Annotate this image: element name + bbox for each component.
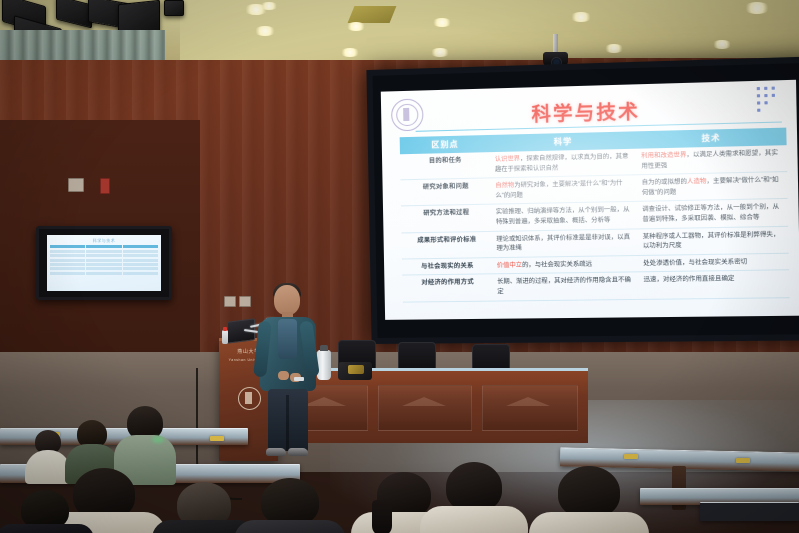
fire-alarm-plate (100, 178, 110, 194)
column-header-distinction: 区别点 (400, 135, 491, 154)
highlighted-term: 自然物 (495, 182, 514, 189)
cell-technology: 调查设计、试验修正等方法，从一般到个别，从普遍到特殊，多采取因袭、模拟、综合等 (638, 199, 788, 229)
audience-bench-back (700, 502, 799, 521)
student-body (529, 512, 649, 533)
bench-number-tag (624, 454, 638, 459)
monitor-table-row (50, 254, 158, 257)
cell-technology: 迅速，对经济的作用直接且确定 (639, 270, 789, 299)
ceiling-downlight (346, 22, 366, 31)
highlighted-term: 认识世界 (495, 155, 520, 163)
highlighted-term: 利用和改造世界 (641, 152, 686, 160)
student-body (0, 524, 94, 533)
row-label: 研究方法和过程 (401, 205, 492, 233)
ceiling-downlight (260, 2, 278, 10)
ceiling-vent (348, 6, 397, 23)
cell-science: 自然物为研究对象，主要解决“是什么”和“为什么”的问题 (491, 175, 638, 205)
monitor-table-row (50, 267, 158, 270)
cell-science: 理论或知识体系，其评价标准是是非对误，以真理为准绳 (492, 229, 639, 258)
projection-screen: 科学与技术 区别点 科学 技术 目的和任务认识世界，探索自然规律，以求真为目的，… (366, 56, 799, 344)
audience-student (238, 478, 342, 533)
confidence-monitor: 科学与技术 (36, 226, 172, 300)
bench-number-tag (210, 436, 224, 441)
table-row: 对经济的作用方式长期、渐进的过程，其对经济的作用隐含且不确定迅速，对经济的作用直… (402, 270, 789, 302)
bottle-on-podium (222, 330, 228, 344)
student-head (558, 466, 620, 518)
ceiling-downlight (430, 48, 450, 57)
bag-on-table (338, 362, 372, 380)
slide-title: 科学与技术 (381, 92, 797, 131)
cell-technology: 处处渗透价值，与社会现实关系密切 (639, 253, 789, 272)
ceiling-downlight (744, 2, 770, 14)
ceiling-downlight (604, 44, 624, 53)
wall-control-plate (68, 178, 84, 192)
bench-number-tag (736, 458, 750, 463)
comparison-table: 区别点 科学 技术 目的和任务认识世界，探索自然规律，以求真为目的，其意趣在于探… (400, 128, 790, 303)
cell-technology: 自为的或拟想的人造物，主要解决“做什么”和“如何做”的问题 (637, 172, 787, 202)
highlighted-term: 价值中立 (497, 262, 522, 269)
monitor-slide-title: 科学与技术 (47, 238, 161, 244)
cell-science: 实验推理、归纳演绎等方法，从个别到一般，从特殊到普遍，多采取抽象、概括、分析等 (492, 202, 639, 231)
table-body: 目的和任务认识世界，探索自然规律，以求真为目的，其意趣在于探索和认识自然利用和改… (400, 145, 790, 302)
audience-student (0, 490, 90, 533)
audience-student (426, 462, 522, 533)
ceiling-downlight (254, 26, 276, 36)
ceiling-downlight (340, 48, 360, 57)
monitor-table-row (50, 259, 158, 262)
monitor-table-header (50, 245, 158, 248)
lecture-hall-scene: EXIT 科学与技术 科学与技术 (0, 0, 799, 533)
cell-technology: 某种程序或人工器物，其评价标准是利弊得失，以功利为尺度 (638, 226, 788, 255)
presenter-head (274, 285, 300, 315)
monitor-table-row (50, 272, 158, 275)
ceiling-downlight (712, 40, 732, 49)
cell-science: 认识世界，探索自然规律，以求真为目的，其意趣在于探索和认识自然 (491, 149, 638, 178)
presentation-slide: 科学与技术 区别点 科学 技术 目的和任务认识世界，探索自然规律，以求真为目的，… (381, 80, 799, 320)
row-label: 成果形式和评价标准 (401, 231, 492, 259)
wall-outlet-plate (224, 296, 236, 307)
stray-green-light (152, 436, 164, 443)
ceiling-rig-bracket (164, 0, 184, 16)
wall-outlet-plate (239, 296, 251, 307)
row-label: 目的和任务 (400, 152, 491, 180)
presenter-wristwatch (294, 377, 304, 381)
confidence-monitor-screen: 科学与技术 (47, 235, 161, 291)
row-label: 对经济的作用方式 (402, 274, 493, 302)
ceiling-downlight (432, 18, 452, 27)
presenter-left-hand (278, 371, 289, 380)
cell-technology: 利用和改造世界，以满足人类需求和愿望，其实用性更强 (637, 145, 787, 175)
student-body (234, 520, 346, 533)
audience-area (0, 406, 799, 533)
student-body (420, 506, 528, 533)
monitor-table-row (50, 263, 158, 266)
cell-science: 长期、渐进的过程，其对经济的作用隐含且不确定 (493, 272, 640, 300)
presenter-shirt (278, 319, 297, 359)
panel-chevron-ornament (402, 397, 446, 406)
row-label: 与社会现实的关系 (402, 258, 493, 276)
cell-science: 价值中立的，与社会现实关系疏远 (493, 255, 640, 274)
student-ponytail (372, 500, 392, 533)
panel-chevron-ornament (506, 397, 550, 406)
monitor-table-row (50, 250, 158, 253)
ceiling-downlight (570, 12, 592, 22)
student-head (446, 462, 502, 512)
audience-student (534, 466, 644, 533)
student-head (261, 478, 319, 526)
highlighted-term: 人造物 (687, 178, 707, 186)
row-label: 研究对象和问题 (400, 178, 491, 206)
